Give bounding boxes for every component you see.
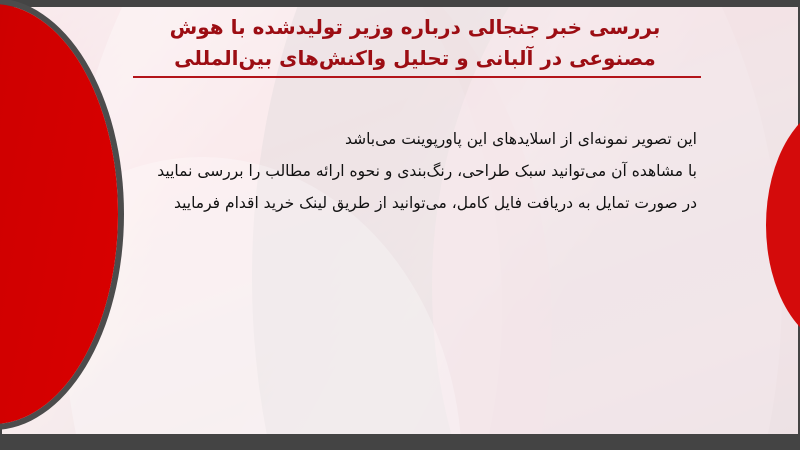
slide-title-line-1: بررسی خبر جنجالی درباره وزیر تولیدشده با… [115,12,715,43]
slide-body-line-3: در صورت تمایل به دریافت فایل کامل، می‌تو… [137,187,697,219]
presentation-slide: بررسی خبر جنجالی درباره وزیر تولیدشده با… [0,0,800,450]
title-underline-rule [133,76,701,78]
slide-frame-bottom [0,432,800,450]
slide-body-text: این تصویر نمونه‌ای از اسلایدهای این پاور… [137,123,697,219]
slide-title-line-2: مصنوعی در آلبانی و تحلیل واکنش‌های بین‌ا… [115,43,715,74]
slide-body-line-2: با مشاهده آن می‌توانید سبک طراحی، رنگ‌بن… [137,155,697,187]
slide-body-line-1: این تصویر نمونه‌ای از اسلایدهای این پاور… [137,123,697,155]
slide-title: بررسی خبر جنجالی درباره وزیر تولیدشده با… [115,12,715,74]
